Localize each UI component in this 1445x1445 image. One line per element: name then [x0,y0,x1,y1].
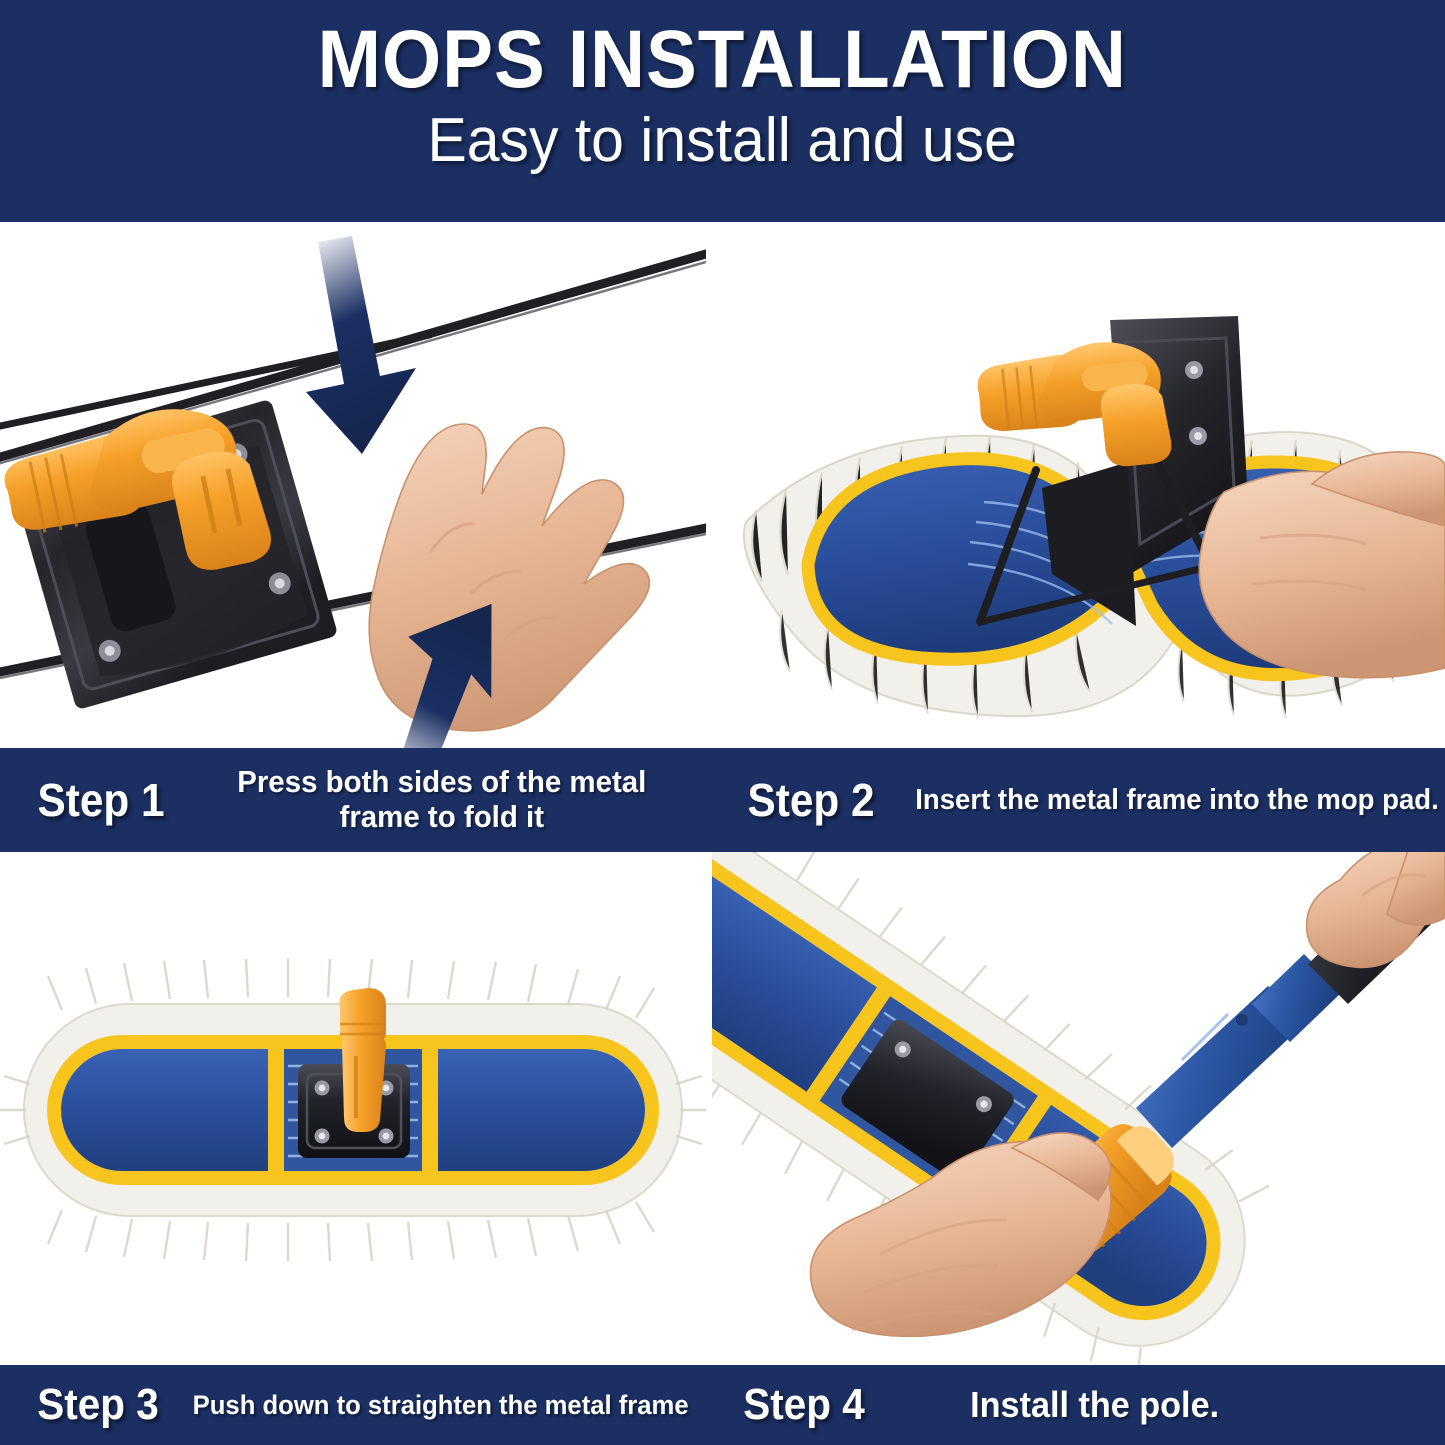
orange-pole-socket [339,988,386,1132]
step-2-caption: Insert the metal frame into the mop pad. [894,784,1438,816]
step-2-image [712,222,1445,748]
step-1-image [0,222,706,748]
step-4-caption: Install the pole. [879,1385,1219,1425]
step-3-caption: Push down to straighten the metal frame [177,1390,688,1420]
page-subtitle: Easy to install and use [428,108,1017,173]
caption-step-3: Step 3 Push down to straighten the metal… [0,1365,706,1445]
step-2-label: Step 2 [748,773,875,827]
caption-step-4: Step 4 Install the pole. [706,1365,1445,1445]
step-1-caption: Press both sides of the metal frame to f… [183,765,692,834]
header-banner: MOPS INSTALLATION Easy to install and us… [0,0,1445,222]
page-title: MOPS INSTALLATION [318,18,1127,102]
caption-step-2: Step 2 Insert the metal frame into the m… [706,748,1445,852]
caption-bar-bottom: Step 3 Push down to straighten the metal… [0,1365,1445,1445]
caption-step-1: Step 1 Press both sides of the metal fra… [0,748,706,852]
caption-bar-top: Step 1 Press both sides of the metal fra… [0,748,1445,852]
step-4-label: Step 4 [743,1380,864,1430]
step-4-image [712,852,1445,1365]
step-3-label: Step 3 [37,1380,158,1430]
infographic-page: MOPS INSTALLATION Easy to install and us… [0,0,1445,1445]
step-3-image [0,852,706,1365]
step-1-label: Step 1 [38,773,165,827]
